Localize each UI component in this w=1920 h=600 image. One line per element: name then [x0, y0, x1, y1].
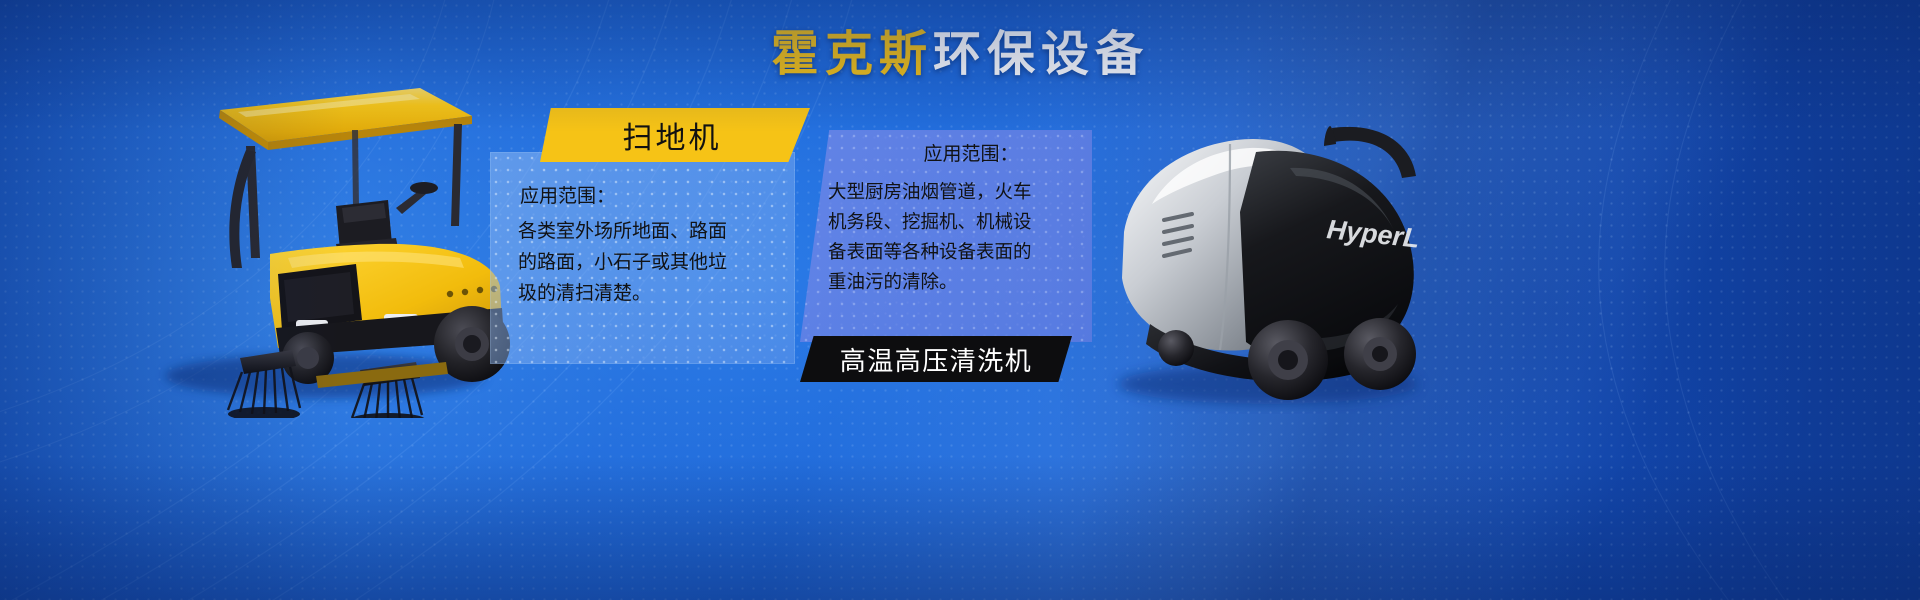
left-copy-lead: 应用范围：	[518, 182, 778, 211]
left-copy-line-1: 各类室外场所地面、路面	[518, 217, 778, 248]
banner-title: 霍克斯环保设备	[0, 30, 1920, 80]
left-copy-line-2: 的路面，小石子或其他垃	[518, 248, 778, 279]
title-rest: 环保设备	[933, 28, 1149, 81]
right-copy-line-4: 重油污的清除。	[828, 267, 1080, 297]
right-copy-line-2: 机务段、挖掘机、机械设	[828, 207, 1080, 237]
sweeper-product-image	[120, 58, 520, 418]
right-copy-line-1: 大型厨房油烟管道，火车	[828, 177, 1080, 207]
sweeper-ribbon[interactable]: 扫地机	[540, 108, 810, 162]
promo-banner: HyperL 霍克斯环保设备 扫地机 应用范围： 各类室外场所地面、路面 的路面…	[0, 0, 1920, 600]
washer-ribbon[interactable]: 高温高压清洗机	[800, 336, 1072, 382]
right-copy-line-3: 备表面等各种设备表面的	[828, 237, 1080, 267]
title-highlight: 霍克斯	[771, 28, 933, 81]
washer-ribbon-label: 高温高压清洗机	[840, 341, 1033, 378]
sweeper-ribbon-label: 扫地机	[623, 113, 722, 157]
left-copy-line-3: 圾的清扫清楚。	[518, 279, 778, 310]
right-copy-lead: 应用范围：	[828, 140, 1080, 169]
left-product-copy: 应用范围： 各类室外场所地面、路面 的路面，小石子或其他垃 圾的清扫清楚。	[518, 182, 778, 310]
pressure-washer-product-image: HyperL	[1080, 92, 1450, 422]
right-product-copy: 应用范围： 大型厨房油烟管道，火车 机务段、挖掘机、机械设 备表面等各种设备表面…	[828, 140, 1080, 297]
